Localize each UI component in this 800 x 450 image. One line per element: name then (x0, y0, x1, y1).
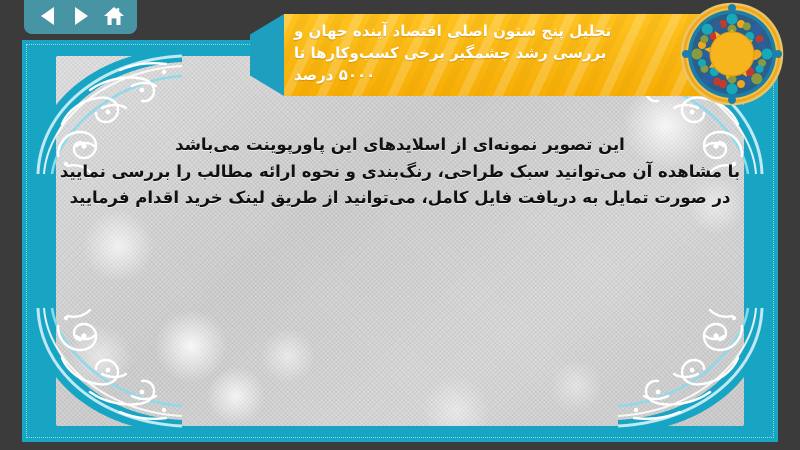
title-line-2: بررسی رشد چشمگیر برخی کسب‌وکارها تا (294, 43, 606, 65)
title-line-1: تحلیل پنج ستون اصلی اقتصاد آینده جهان و (294, 21, 611, 43)
banner-title-body: تحلیل پنج ستون اصلی اقتصاد آینده جهان و … (284, 14, 748, 96)
presentation-slide: این تصویر نمونه‌ای از اسلایدهای این پاور… (22, 40, 778, 442)
slide-navigation-toolbar (24, 0, 137, 34)
triangle-left-icon (39, 6, 57, 26)
banner-arrow-tab (250, 14, 284, 96)
triangle-right-icon (72, 6, 90, 26)
slide-viewer: این تصویر نمونه‌ای از اسلایدهای این پاور… (0, 0, 800, 450)
slide-title-banner: تحلیل پنج ستون اصلی اقتصاد آینده جهان و … (250, 14, 748, 96)
body-line-2: با مشاهده آن می‌توانید سبک طراحی، رنگ‌بن… (56, 159, 744, 186)
persian-medallion-icon (680, 2, 784, 106)
body-line-1: این تصویر نمونه‌ای از اسلایدهای این پاور… (56, 132, 744, 159)
slide-body-text: این تصویر نمونه‌ای از اسلایدهای این پاور… (22, 132, 778, 212)
title-line-3: ۵۰۰۰ درصد (294, 65, 375, 87)
home-icon (103, 6, 125, 27)
slide-content-panel (56, 56, 744, 426)
previous-slide-button[interactable] (34, 3, 62, 29)
home-button[interactable] (100, 3, 128, 29)
body-line-3: در صورت تمایل به دریافت فایل کامل، می‌تو… (56, 185, 744, 212)
next-slide-button[interactable] (67, 3, 95, 29)
